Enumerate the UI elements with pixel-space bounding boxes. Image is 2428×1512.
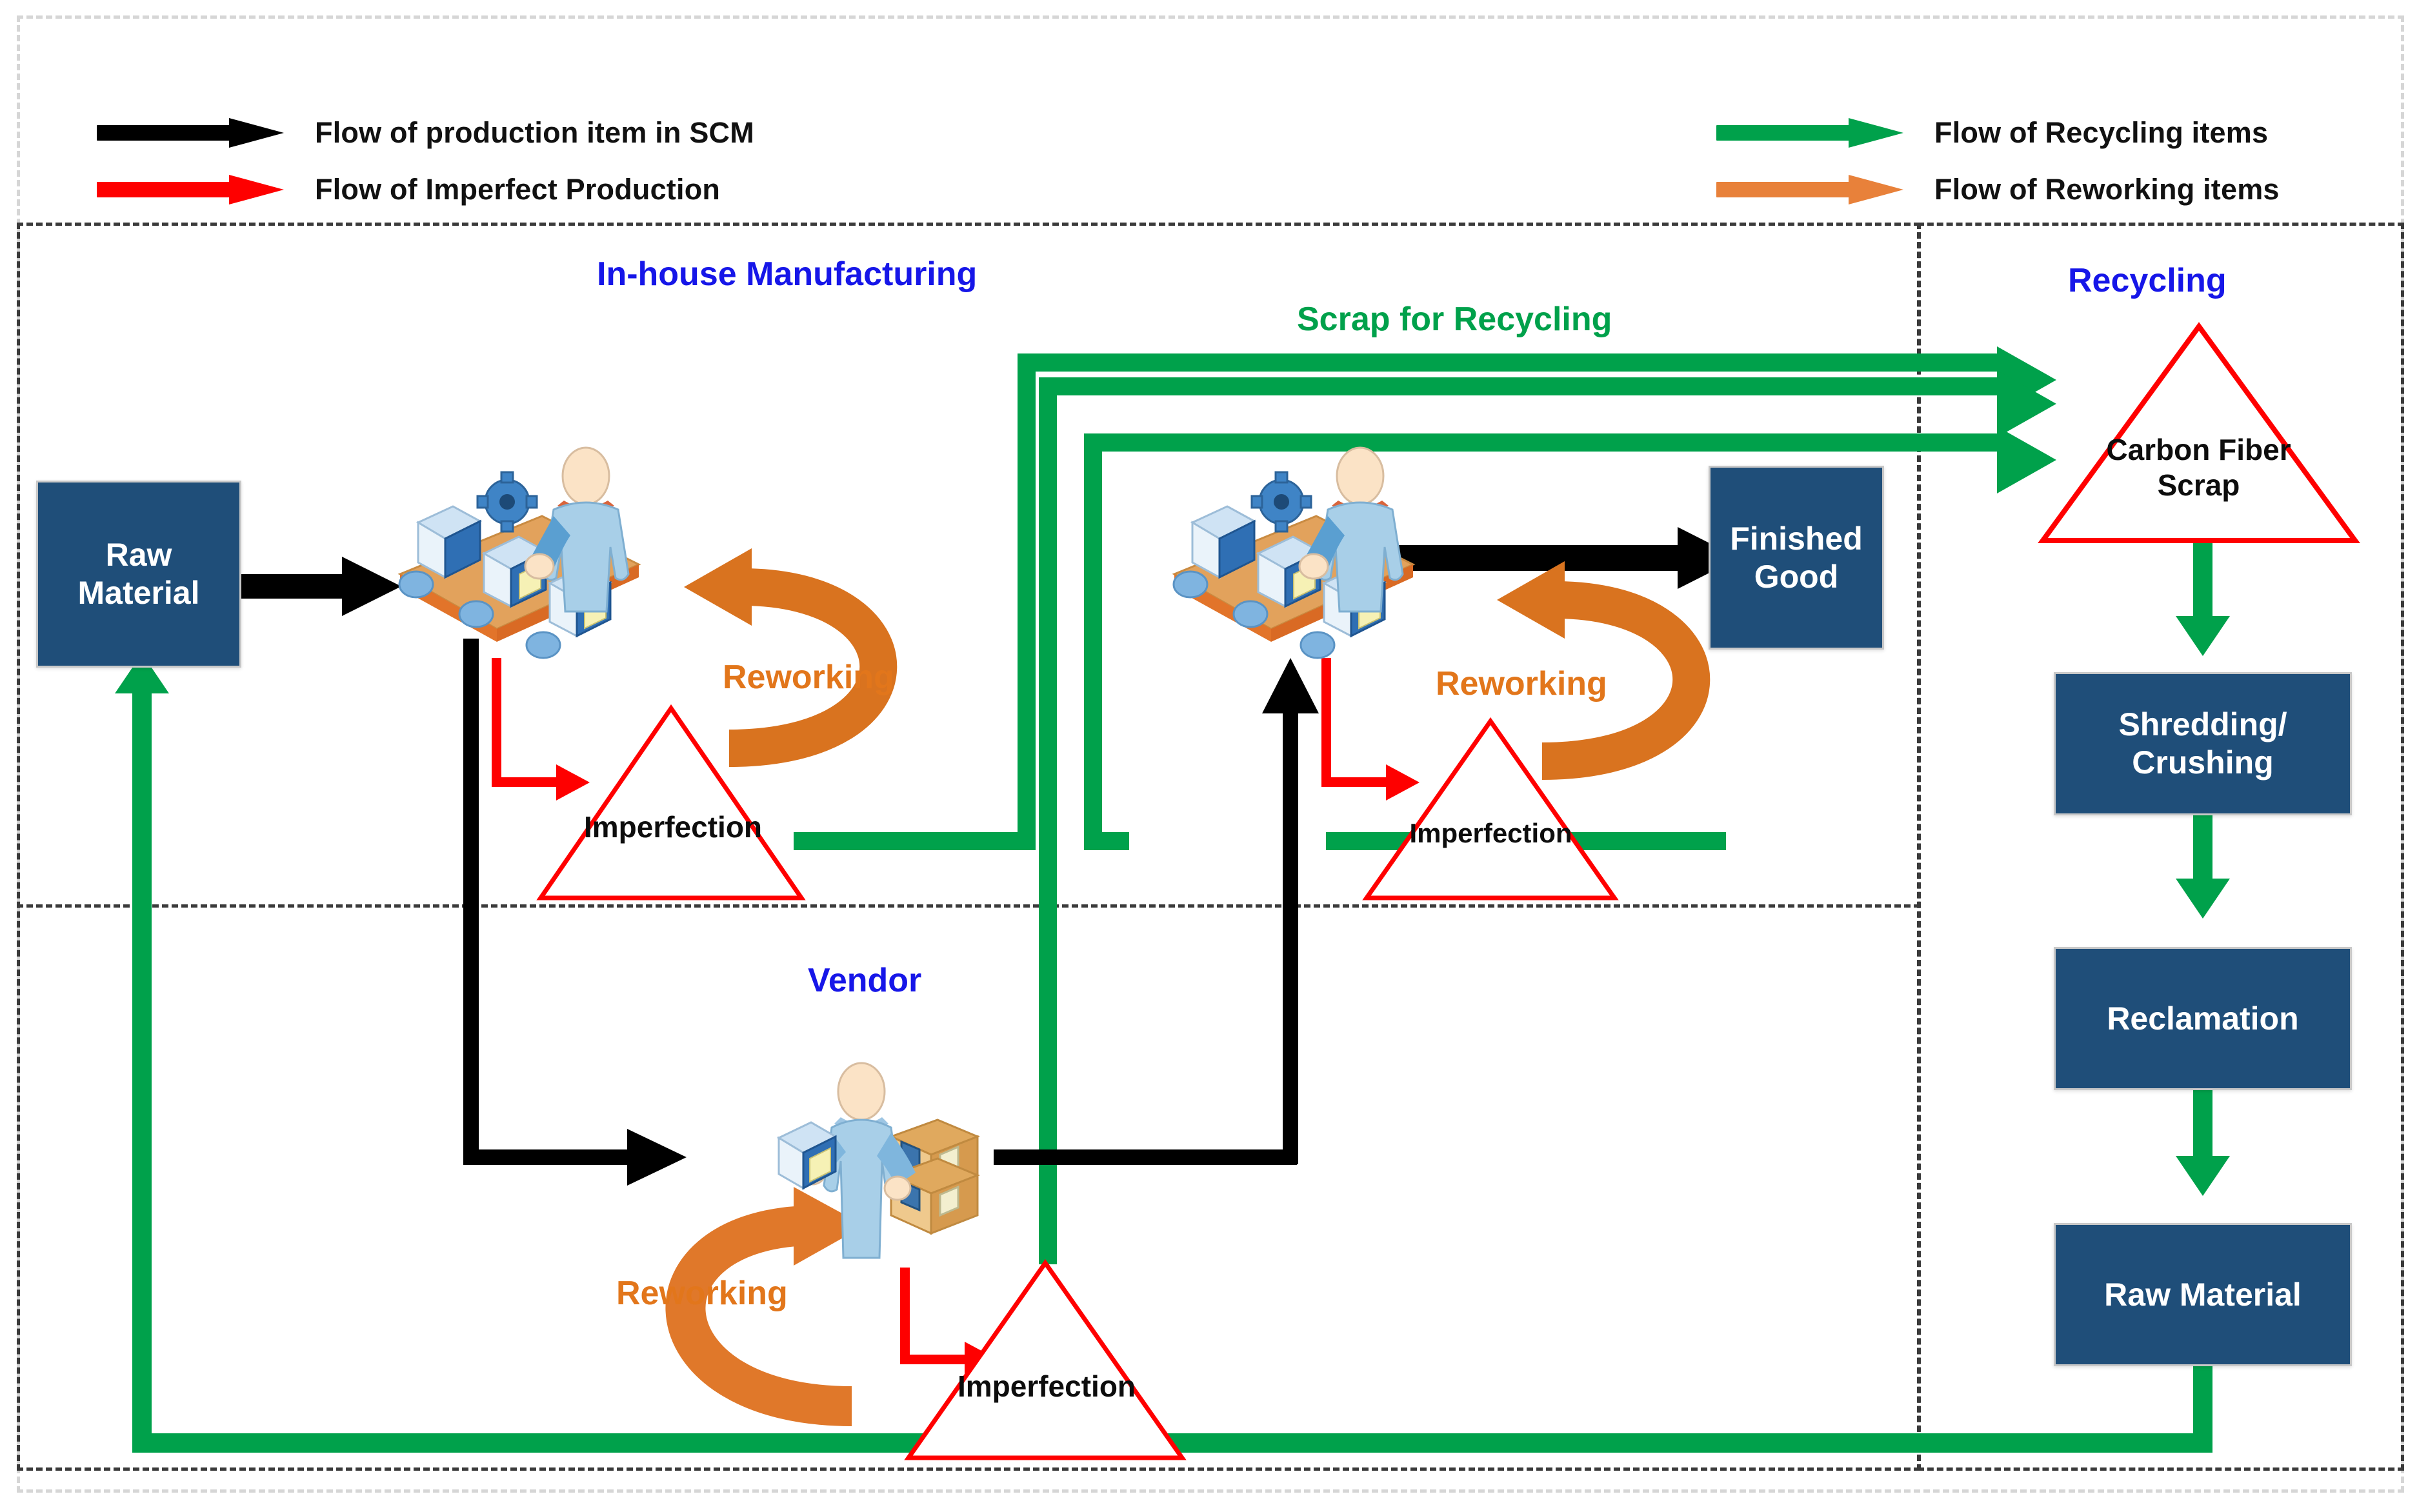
green-path-a-h2 [1018,353,1998,372]
green-reclamation-to-raw-shaft [2193,1089,2212,1160]
reworking-label-station1: Reworking [723,658,894,697]
reworking-label-station2: Reworking [1436,664,1607,703]
green-arrow-icon [1716,118,1903,148]
legend-label-flow-recycling: Flow of Recycling items [1934,116,2268,150]
scrap-for-recycling-label: Scrap for Recycling [1297,300,1612,339]
node-finished-good[interactable]: Finished Good [1709,466,1884,650]
legend-label-flow-reworking: Flow of Reworking items [1934,173,2280,206]
green-return-v-left [132,693,152,1435]
node-imperfection-1-triangle[interactable] [536,703,807,903]
green-path-c-join [1084,832,1129,850]
black-vendor-to-station2-h [994,1149,1297,1165]
assembly-worker-station-1-icon [381,445,652,677]
section-title-recycling: Recycling [2068,261,2227,300]
green-shredding-to-reclamation-shaft [2193,811,2212,882]
vendor-worker-icon [765,1058,1023,1284]
legend-item-flow-recycling: Flow of Recycling items [1716,116,2268,150]
reworking-label-vendor: Reworking [616,1274,788,1313]
red-arrow-icon [97,175,284,204]
red-station2-v [1321,658,1331,787]
section-title-inhouse: In-house Manufacturing [597,255,977,293]
node-reclamation[interactable]: Reclamation [2054,947,2352,1090]
label-imperfection-2: Imperfection [1367,818,1615,849]
green-scrap-to-shredding-shaft [2193,542,2212,619]
node-raw-material-output[interactable]: Raw Material [2054,1223,2352,1366]
label-imperfection-1: Imperfection [547,810,799,844]
green-path-a-h1 [794,832,1036,850]
inhouse-vendor-divider [17,904,1920,908]
label-imperfection-3: Imperfection [918,1369,1176,1404]
green-reclamation-to-raw-head [2176,1156,2230,1196]
black-station1-to-vendor-v [463,639,479,1158]
black-raw-to-station1-shaft [239,574,345,599]
legend-label-flow-production: Flow of production item in SCM [315,116,754,150]
legend-label-flow-imperfect: Flow of Imperfect Production [315,173,720,206]
assembly-worker-station-2-icon [1155,445,1426,677]
green-path-b-v [1039,377,1057,1264]
label-carbon-fiber-scrap: Carbon Fiber Scrap [2068,432,2329,503]
green-shredding-to-reclamation-head [2176,879,2230,919]
node-imperfection-3-triangle[interactable] [903,1258,1187,1463]
section-title-vendor: Vendor [808,961,921,1000]
green-path-c-v [1084,433,1102,834]
red-station1-v [492,658,501,787]
node-shredding-crushing[interactable]: Shredding/ Crushing [2054,672,2352,815]
black-vendor-to-station2-v [1283,697,1298,1164]
green-path-a-v [1018,353,1036,834]
green-scrap-to-shredding-head [2176,616,2230,656]
legend-item-flow-reworking: Flow of Reworking items [1716,173,2280,206]
black-arrow-icon [97,118,284,148]
green-path-b-h [1039,377,1998,395]
legend-item-flow-production: Flow of production item in SCM [97,116,754,150]
diagram-canvas: Flow of production item in SCM Flow of I… [0,0,2428,1512]
node-imperfection-2-triangle[interactable] [1361,716,1620,903]
node-raw-material-input[interactable]: Raw Material [36,481,241,668]
legend-item-flow-imperfect: Flow of Imperfect Production [97,173,720,206]
orange-arrow-icon [1716,175,1903,204]
